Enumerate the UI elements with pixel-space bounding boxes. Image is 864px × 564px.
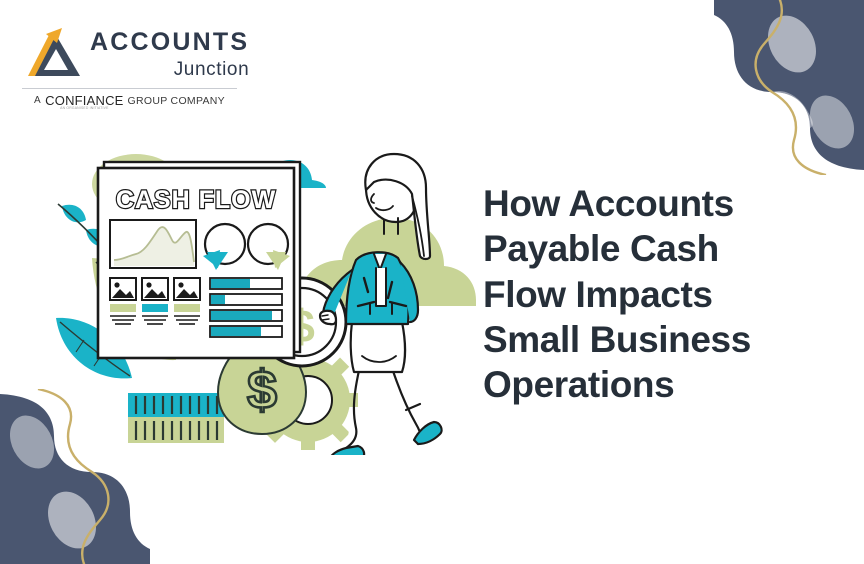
progress-bar-1 — [210, 278, 282, 289]
headline-line-1: How Accounts — [483, 181, 813, 226]
progress-bar-2 — [210, 294, 282, 305]
cash-flow-dashboard-card: CASH FLOW — [98, 162, 300, 358]
headline-line-5: Operations — [483, 362, 813, 407]
accounts-junction-logo-icon — [22, 22, 84, 84]
progress-bar-4 — [210, 326, 282, 337]
headline-line-4: Small Business — [483, 317, 813, 362]
hero-illustration: $ $ CASH FLOW — [40, 110, 480, 455]
dashboard-title: CASH FLOW — [116, 186, 276, 214]
headline-line-3: Flow Impacts — [483, 272, 813, 317]
blog-banner: ACCOUNTS Junction A CONFIANCE AN ORGANIS… — [0, 0, 864, 564]
logo-divider — [22, 88, 237, 89]
tagline-suffix: GROUP COMPANY — [128, 95, 225, 107]
barcode-strip — [128, 393, 224, 443]
page-title: How Accounts Payable Cash Flow Impacts S… — [483, 181, 813, 408]
logo-tagline: A CONFIANCE AN ORGANISED INITIATIVE GROU… — [22, 93, 237, 108]
area-line-chart — [110, 220, 196, 268]
progress-bar-3 — [210, 310, 282, 321]
tagline-prefix: A — [34, 95, 41, 106]
brand-logo[interactable]: ACCOUNTS Junction A CONFIANCE AN ORGANIS… — [22, 14, 237, 106]
logo-wordmark: ACCOUNTS Junction — [90, 30, 249, 82]
logo-line-accounts: ACCOUNTS — [90, 30, 249, 55]
headline-line-2: Payable Cash — [483, 226, 813, 271]
tagline-brand-confiance: CONFIANCE AN ORGANISED INITIATIVE — [45, 93, 123, 108]
logo-line-junction: Junction — [90, 58, 249, 82]
corner-decoration-top-right — [714, 0, 864, 175]
svg-text:$: $ — [247, 360, 277, 420]
